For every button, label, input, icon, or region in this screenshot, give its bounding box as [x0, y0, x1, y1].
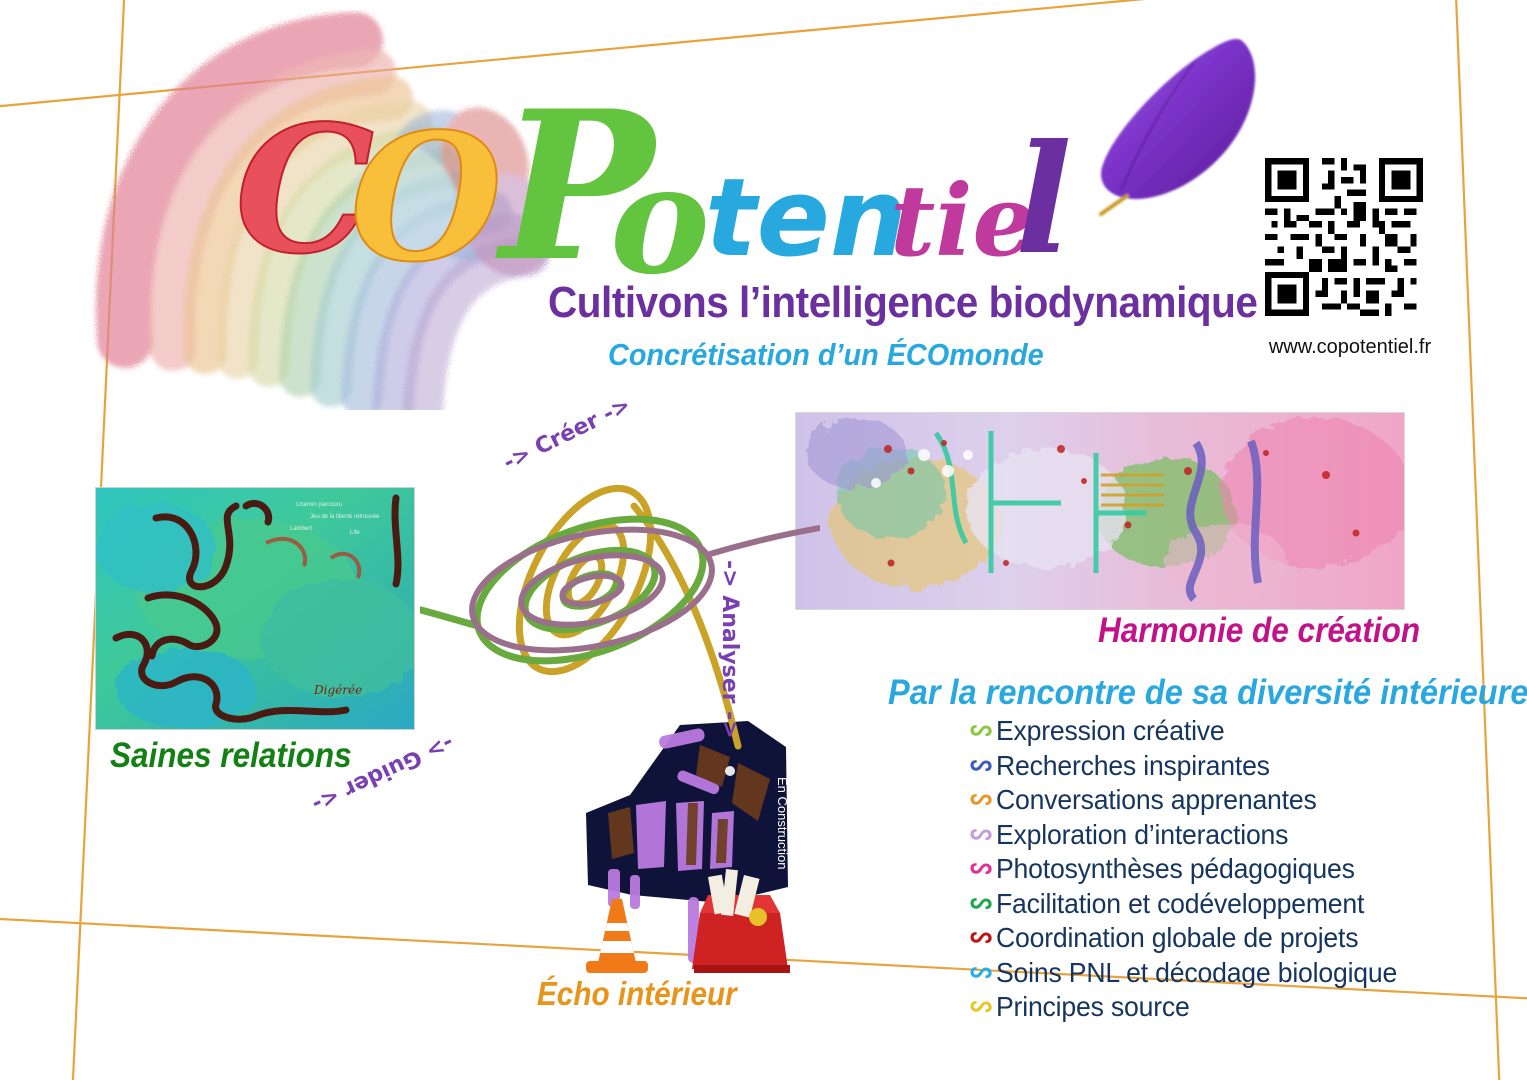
- list-item[interactable]: ∾ Soins PNL et décodage biologique: [966, 956, 1506, 991]
- spiral-bullet-icon: ∾: [966, 923, 996, 953]
- list-item[interactable]: ∾ Photosynthèses pédagogiques: [966, 852, 1506, 887]
- list-item[interactable]: ∾ Coordination globale de projets: [966, 921, 1506, 956]
- svg-text:Lambert: Lambert: [290, 526, 312, 532]
- list-item[interactable]: ∾ Recherches inspirantes: [966, 749, 1506, 784]
- purple-feather-icon: [1035, 18, 1275, 258]
- website-url[interactable]: www.copotentiel.fr: [1240, 336, 1460, 359]
- svg-text:Jeu de la liberté retrouvée: Jeu de la liberté retrouvée: [310, 514, 380, 520]
- list-item-label: Principes source: [996, 991, 1190, 1023]
- offering-list: ∾ Expression créative ∾ Recherches inspi…: [966, 714, 1506, 1025]
- artwork-echo-interieur: En Construction: [572, 717, 810, 979]
- tagline: Cultivons l’intelligence biodynamique: [548, 278, 1247, 328]
- svg-text:En Construction: En Construction: [775, 777, 790, 870]
- list-item-label: Coordination globale de projets: [996, 922, 1358, 954]
- artwork-harmonie-de-creation: [795, 412, 1405, 610]
- list-item-label: Recherches inspirantes: [996, 750, 1270, 782]
- artwork-saines-relations: Chemin parcouru Jeu de la liberté retrou…: [95, 487, 415, 730]
- list-item-label: Exploration d’interactions: [996, 819, 1288, 851]
- poster-canvas: C O P o ten tie l Cultivons l’intelligen…: [0, 0, 1527, 1080]
- spiral-label-analyser: -> Analyser ->: [717, 560, 742, 739]
- spiral-bullet-icon: ∾: [966, 751, 996, 781]
- qr-code-icon[interactable]: [1265, 158, 1423, 316]
- list-item-label: Photosynthèses pédagogiques: [996, 853, 1355, 885]
- svg-text:Life: Life: [350, 530, 360, 536]
- spiral-label-creer: -> Créer ->: [500, 393, 635, 476]
- spiral-bullet-icon: ∾: [966, 992, 996, 1022]
- svg-text:Chemin parcouru: Chemin parcouru: [296, 502, 342, 508]
- caption-harmonie-de-creation: Harmonie de création: [1098, 611, 1420, 651]
- caption-saines-relations: Saines relations: [110, 736, 352, 776]
- list-item-label: Facilitation et codéveloppement: [996, 888, 1364, 920]
- caption-echo-interieur: Écho intérieur: [537, 975, 737, 1013]
- spiral-bullet-icon: ∾: [966, 820, 996, 850]
- spiral-bullet-icon: ∾: [966, 889, 996, 919]
- list-item[interactable]: ∾ Conversations apprenantes: [966, 783, 1506, 818]
- list-item[interactable]: ∾ Principes source: [966, 990, 1506, 1025]
- list-item[interactable]: ∾ Expression créative: [966, 714, 1506, 749]
- logo-letter-o2: o: [610, 145, 710, 295]
- list-item[interactable]: ∾ Facilitation et codéveloppement: [966, 887, 1506, 922]
- logo-letters-ten: ten: [705, 165, 907, 273]
- spiral-bullet-icon: ∾: [966, 785, 996, 815]
- spiral-bullet-icon: ∾: [966, 716, 996, 746]
- logo-letter-o: O: [350, 111, 502, 286]
- svg-text:Digérée: Digérée: [313, 683, 362, 697]
- offering-heading: Par la rencontre de sa diversité intérie…: [888, 673, 1527, 713]
- spiral-bullet-icon: ∾: [966, 958, 996, 988]
- list-item-label: Soins PNL et décodage biologique: [996, 957, 1397, 989]
- logo-wordmark: C O P o ten tie l: [210, 55, 1110, 305]
- list-item-label: Conversations apprenantes: [996, 784, 1317, 816]
- list-item[interactable]: ∾ Exploration d’interactions: [966, 818, 1506, 853]
- sub-tagline: Concrétisation d’un ÉCOmonde: [608, 337, 1259, 373]
- spiral-bullet-icon: ∾: [966, 854, 996, 884]
- list-item-label: Expression créative: [996, 715, 1225, 747]
- logo-letters-tie: tie: [890, 173, 1035, 271]
